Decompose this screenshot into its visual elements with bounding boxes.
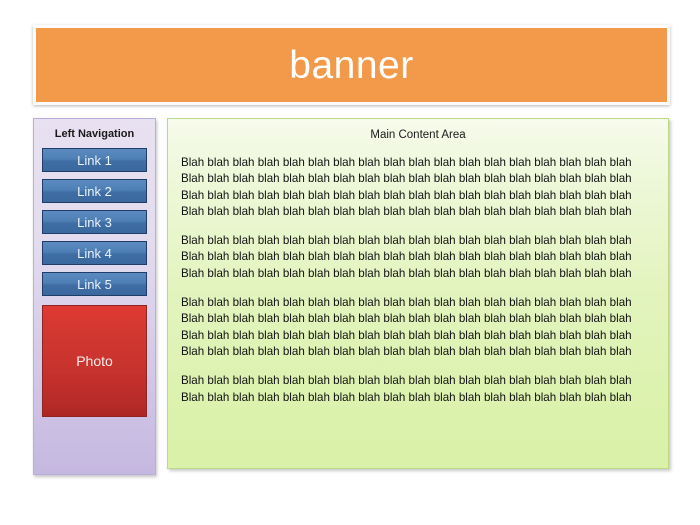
content-paragraph: Blah blah blah blah blah blah blah blah … xyxy=(181,233,657,282)
sidebar-item-link-1[interactable]: Link 1 xyxy=(42,148,147,172)
content-line: Blah blah blah blah blah blah blah blah … xyxy=(181,295,657,311)
content-line: Blah blah blah blah blah blah blah blah … xyxy=(181,155,657,171)
content-line: Blah blah blah blah blah blah blah blah … xyxy=(181,266,657,282)
content-paragraph: Blah blah blah blah blah blah blah blah … xyxy=(181,373,657,406)
sidebar-item-label: Link 4 xyxy=(77,246,112,261)
photo-placeholder-label: Photo xyxy=(76,353,113,369)
banner: banner xyxy=(33,25,670,105)
main-content-area: Main Content Area Blah blah blah blah bl… xyxy=(167,118,669,469)
content-line: Blah blah blah blah blah blah blah blah … xyxy=(181,171,657,187)
content-line: Blah blah blah blah blah blah blah blah … xyxy=(181,204,657,220)
content-line: Blah blah blah blah blah blah blah blah … xyxy=(181,373,657,389)
sidebar-item-link-4[interactable]: Link 4 xyxy=(42,241,147,265)
main-content-title: Main Content Area xyxy=(176,127,660,155)
content-paragraph: Blah blah blah blah blah blah blah blah … xyxy=(181,295,657,360)
nav-link-list: Link 1 Link 2 Link 3 Link 4 Link 5 xyxy=(42,148,147,296)
content-line: Blah blah blah blah blah blah blah blah … xyxy=(181,344,657,360)
main-content-body: Blah blah blah blah blah blah blah blah … xyxy=(176,155,660,406)
content-paragraph: Blah blah blah blah blah blah blah blah … xyxy=(181,155,657,220)
left-navigation-panel: Left Navigation Link 1 Link 2 Link 3 Lin… xyxy=(33,118,156,475)
sidebar-item-label: Link 1 xyxy=(77,153,112,168)
sidebar-item-link-3[interactable]: Link 3 xyxy=(42,210,147,234)
content-line: Blah blah blah blah blah blah blah blah … xyxy=(181,249,657,265)
sidebar-item-label: Link 5 xyxy=(77,277,112,292)
banner-title: banner xyxy=(289,46,413,85)
page-canvas: banner Left Navigation Link 1 Link 2 Lin… xyxy=(0,0,700,525)
content-line: Blah blah blah blah blah blah blah blah … xyxy=(181,390,657,406)
photo-placeholder: Photo xyxy=(42,305,147,417)
content-line: Blah blah blah blah blah blah blah blah … xyxy=(181,311,657,327)
sidebar-item-link-5[interactable]: Link 5 xyxy=(42,272,147,296)
sidebar-item-link-2[interactable]: Link 2 xyxy=(42,179,147,203)
content-line: Blah blah blah blah blah blah blah blah … xyxy=(181,188,657,204)
sidebar-item-label: Link 2 xyxy=(77,184,112,199)
left-navigation-title: Left Navigation xyxy=(42,125,147,146)
content-line: Blah blah blah blah blah blah blah blah … xyxy=(181,328,657,344)
sidebar-item-label: Link 3 xyxy=(77,215,112,230)
content-line: Blah blah blah blah blah blah blah blah … xyxy=(181,233,657,249)
